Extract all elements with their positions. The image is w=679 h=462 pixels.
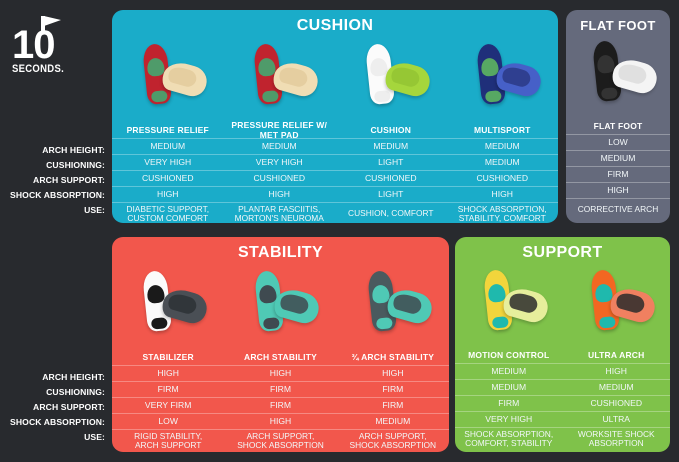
product-art-row-flat-foot [566, 33, 670, 119]
spec-cell-use: RIGID STABILITY,ARCH SUPPORT [112, 430, 224, 452]
spec-cell-arch-height: LOW [566, 135, 670, 150]
insole-flat-inner [166, 65, 198, 89]
spec-cell-arch-support: FIRM [224, 398, 336, 413]
spec-cell-use: SHOCK ABSORPTION,STABILITY, COMFORT [447, 203, 559, 223]
spec-row-use: DIABETIC SUPPORT,CUSTOM COMFORTPLANTAR F… [112, 203, 558, 223]
row-label-column-bottom: ARCH HEIGHT:CUSHIONING:ARCH SUPPORT:SHOC… [0, 369, 105, 451]
product-art-pressure-relief [112, 35, 224, 123]
spec-row-shock-absorption: HIGH [566, 183, 670, 198]
row-divider [455, 363, 670, 364]
spec-row-cushioning: MEDIUM [566, 151, 670, 166]
row-label-cushioning: CUSHIONING: [0, 384, 105, 399]
row-divider [112, 413, 449, 414]
insole-heel-accent [262, 90, 279, 103]
panel-support: SUPPORT MOTION CONTROLULTRA ARCHMEDIUMHI… [455, 237, 670, 452]
spec-cell-arch-height: HIGH [563, 364, 671, 379]
spec-table-support: MOTION CONTROLULTRA ARCHMEDIUMHIGHMEDIUM… [455, 348, 670, 450]
insole-heel-accent [151, 317, 168, 330]
spec-cell-product-name: ULTRA ARCH [563, 348, 671, 363]
row-divider [455, 427, 670, 428]
spec-row-cushioning: MEDIUMMEDIUM [455, 380, 670, 395]
insole-arch-accent [369, 57, 388, 77]
spec-row-arch-support: VERY FIRMFIRMFIRM [112, 398, 449, 413]
panel-title-stability: STABILITY [112, 237, 449, 262]
spec-row-arch-height: LOW [566, 135, 670, 150]
spec-row-product-name: STABILIZERARCH STABILITY¾ ARCH STABILITY [112, 350, 449, 365]
spec-cell-arch-height: MEDIUM [447, 139, 559, 154]
spec-cell-cushioning: MEDIUM [447, 155, 559, 170]
spec-row-use: RIGID STABILITY,ARCH SUPPORTARCH SUPPORT… [112, 430, 449, 452]
spec-cell-shock-absorption: ULTRA [563, 412, 671, 427]
spec-cell-product-name: PRESSURE RELIEF W/ MET PAD [224, 123, 336, 138]
product-art-row-support [455, 262, 670, 348]
insole-illustration [354, 269, 432, 343]
insole-heel-accent [599, 316, 616, 329]
insole-arch-accent [146, 57, 165, 77]
spec-row-shock-absorption: HIGHHIGHLIGHTHIGH [112, 187, 558, 202]
spec-cell-shock-absorption: LIGHT [335, 187, 447, 202]
row-divider [112, 365, 449, 366]
spec-cell-shock-absorption: MEDIUM [337, 414, 449, 429]
panel-title-support: SUPPORT [455, 237, 670, 262]
product-art-stabilizer [112, 262, 224, 350]
row-divider [566, 182, 670, 183]
insole-flat-inner [279, 292, 311, 316]
row-label-archsupport: ARCH SUPPORT: [0, 399, 105, 414]
spec-row-arch-support: FIRMCUSHIONED [455, 396, 670, 411]
spec-cell-product-name: ¾ ARCH STABILITY [337, 350, 449, 365]
insole-illustration [129, 269, 207, 343]
product-art-arch-stability [224, 262, 336, 350]
spec-row-cushioning: VERY HIGHVERY HIGHLIGHTMEDIUM [112, 155, 558, 170]
spec-row-product-name: MOTION CONTROLULTRA ARCH [455, 348, 670, 363]
insole-heel-accent [263, 317, 280, 330]
spec-row-cushioning: FIRMFIRMFIRM [112, 382, 449, 397]
row-divider [566, 198, 670, 199]
spec-cell-product-name: FLAT FOOT [566, 119, 670, 134]
insole-illustration [577, 268, 655, 342]
logo-number: 10 [12, 26, 55, 64]
insole-heel-accent [374, 90, 391, 103]
row-label-archheight: ARCH HEIGHT: [0, 369, 105, 384]
spec-cell-arch-height: HIGH [337, 366, 449, 381]
spec-cell-shock-absorption: HIGH [224, 187, 336, 202]
spec-row-shock-absorption: LOWHIGHMEDIUM [112, 414, 449, 429]
spec-cell-cushioning: FIRM [224, 382, 336, 397]
product-art-row-cushion [112, 35, 558, 123]
spec-cell-arch-support: CUSHIONED [563, 396, 671, 411]
insole-illustration [579, 39, 657, 113]
insole-illustration [240, 42, 318, 116]
product-art-multisport [447, 35, 559, 123]
spec-cell-use: PLANTAR FASCIITIS,MORTON'S NEUROMA [224, 203, 336, 223]
spec-row-arch-support: FIRM [566, 167, 670, 182]
panel-flat-foot: FLAT FOOT FLAT FOOTLOWMEDIUMFIRMHIGHCORR… [566, 10, 670, 223]
insole-arch-accent [487, 283, 506, 303]
spec-cell-product-name: CUSHION [335, 123, 447, 138]
spec-cell-use: DIABETIC SUPPORT,CUSTOM COMFORT [112, 203, 224, 223]
spec-cell-product-name: PRESSURE RELIEF [112, 123, 224, 138]
spec-cell-arch-height: HIGH [224, 366, 336, 381]
insole-flat-inner [615, 291, 647, 315]
row-divider [112, 397, 449, 398]
spec-cell-product-name: STABILIZER [112, 350, 224, 365]
insole-illustration [129, 42, 207, 116]
spec-cell-cushioning: LIGHT [335, 155, 447, 170]
row-divider [112, 429, 449, 430]
insole-heel-accent [492, 316, 509, 329]
row-divider [566, 166, 670, 167]
row-label-archsupport: ARCH SUPPORT: [0, 172, 105, 187]
row-label-archheight: ARCH HEIGHT: [0, 142, 105, 157]
spec-table-flat-foot: FLAT FOOTLOWMEDIUMFIRMHIGHCORRECTIVE ARC… [566, 119, 670, 221]
product-art-ultra-arch [563, 262, 671, 348]
spec-cell-cushioning: VERY HIGH [224, 155, 336, 170]
row-divider [455, 395, 670, 396]
product-art-motion-control [455, 262, 563, 348]
spec-cell-arch-height: MEDIUM [335, 139, 447, 154]
spec-cell-use: SHOCK ABSORPTION,COMFORT, STABILITY [455, 428, 563, 450]
insole-arch-accent [371, 284, 390, 304]
row-divider [112, 186, 558, 187]
spec-cell-arch-support: CUSHIONED [335, 171, 447, 186]
spec-cell-arch-support: FIRM [566, 167, 670, 182]
spec-row-product-name: PRESSURE RELIEFPRESSURE RELIEF W/ MET PA… [112, 123, 558, 138]
spec-cell-use: CUSHION, COMFORT [335, 203, 447, 223]
spec-row-arch-support: CUSHIONEDCUSHIONEDCUSHIONEDCUSHIONED [112, 171, 558, 186]
row-label-cushioning: CUSHIONING: [0, 157, 105, 172]
insole-illustration [352, 42, 430, 116]
spec-cell-arch-height: MEDIUM [112, 139, 224, 154]
spec-cell-shock-absorption: VERY HIGH [455, 412, 563, 427]
spec-cell-shock-absorption: HIGH [447, 187, 559, 202]
spec-cell-cushioning: VERY HIGH [112, 155, 224, 170]
row-divider [455, 411, 670, 412]
insole-heel-accent [485, 90, 502, 103]
spec-cell-arch-support: CUSHIONED [447, 171, 559, 186]
spec-row-product-name: FLAT FOOT [566, 119, 670, 134]
insole-illustration [470, 268, 548, 342]
spec-row-arch-height: MEDIUMHIGH [455, 364, 670, 379]
insole-flat-inner [167, 292, 199, 316]
panel-title-cushion: CUSHION [112, 10, 558, 35]
product-art-flat-foot [566, 33, 670, 119]
logo-wordmark: SECONDS. [12, 63, 64, 75]
spec-cell-arch-support: VERY FIRM [112, 398, 224, 413]
spec-cell-use: ARCH SUPPORT,SHOCK ABSORPTION [224, 430, 336, 452]
spec-row-use: CORRECTIVE ARCH [566, 199, 670, 221]
spec-cell-product-name: MOTION CONTROL [455, 348, 563, 363]
insole-heel-accent [376, 317, 393, 330]
spec-cell-use: WORKSITE SHOCKABSORPTION [563, 428, 671, 450]
spec-row-arch-height: MEDIUMMEDIUMMEDIUMMEDIUM [112, 139, 558, 154]
insole-flat-inner [501, 65, 533, 89]
row-divider [455, 379, 670, 380]
spec-table-cushion: PRESSURE RELIEFPRESSURE RELIEF W/ MET PA… [112, 123, 558, 223]
product-art--arch-stability [337, 262, 449, 350]
row-divider [112, 381, 449, 382]
insole-flat-inner [278, 65, 310, 89]
spec-cell-cushioning: MEDIUM [563, 380, 671, 395]
spec-cell-cushioning: MEDIUM [455, 380, 563, 395]
spec-cell-arch-height: HIGH [112, 366, 224, 381]
row-divider [112, 154, 558, 155]
spec-cell-shock-absorption: HIGH [224, 414, 336, 429]
spec-cell-arch-height: MEDIUM [455, 364, 563, 379]
brand-logo: 10 SECONDS. [10, 14, 72, 74]
spec-cell-cushioning: FIRM [337, 382, 449, 397]
insole-illustration [463, 42, 541, 116]
row-divider [112, 138, 558, 139]
spec-cell-arch-support: CUSHIONED [112, 171, 224, 186]
row-label-column-top: ARCH HEIGHT:CUSHIONING:ARCH SUPPORT:SHOC… [0, 142, 105, 224]
spec-row-use: SHOCK ABSORPTION,COMFORT, STABILITYWORKS… [455, 428, 670, 450]
spec-cell-cushioning: MEDIUM [566, 151, 670, 166]
product-art-pressure-relief-w-met-pad [224, 35, 336, 123]
spec-cell-shock-absorption: HIGH [566, 183, 670, 198]
insole-flat-inner [617, 62, 649, 86]
insole-flat-inner [507, 291, 539, 315]
spec-cell-use: CORRECTIVE ARCH [566, 199, 670, 221]
panel-title-flat-foot: FLAT FOOT [566, 10, 670, 33]
insole-illustration [241, 269, 319, 343]
spec-cell-shock-absorption: LOW [112, 414, 224, 429]
insole-heel-accent [601, 87, 618, 100]
row-label-use: USE: [0, 202, 105, 224]
spec-cell-arch-height: MEDIUM [224, 139, 336, 154]
row-divider [566, 134, 670, 135]
row-label-use: USE: [0, 429, 105, 451]
insole-flat-inner [389, 65, 421, 89]
row-divider [112, 170, 558, 171]
panel-stability: STABILITY STABILIZERARCH STABILITY¾ ARCH… [112, 237, 449, 452]
insole-heel-accent [151, 90, 168, 103]
row-label-shockabsorption: SHOCK ABSORPTION: [0, 414, 105, 429]
row-divider [112, 202, 558, 203]
row-label-shockabsorption: SHOCK ABSORPTION: [0, 187, 105, 202]
product-art-row-stability [112, 262, 449, 350]
product-art-cushion [335, 35, 447, 123]
spec-cell-arch-support: FIRM [455, 396, 563, 411]
spec-table-stability: STABILIZERARCH STABILITY¾ ARCH STABILITY… [112, 350, 449, 452]
panel-cushion: CUSHION PRESSURE RELIEFPRESSURE RELIEF W… [112, 10, 558, 223]
spec-cell-use: ARCH SUPPORT,SHOCK ABSORPTION [337, 430, 449, 452]
spec-row-shock-absorption: VERY HIGHULTRA [455, 412, 670, 427]
spec-cell-arch-support: CUSHIONED [224, 171, 336, 186]
row-divider [566, 150, 670, 151]
spec-cell-shock-absorption: HIGH [112, 187, 224, 202]
spec-cell-cushioning: FIRM [112, 382, 224, 397]
spec-row-arch-height: HIGHHIGHHIGH [112, 366, 449, 381]
spec-cell-arch-support: FIRM [337, 398, 449, 413]
spec-cell-product-name: ARCH STABILITY [224, 350, 336, 365]
spec-cell-product-name: MULTISPORT [447, 123, 559, 138]
insole-flat-inner [392, 292, 424, 316]
